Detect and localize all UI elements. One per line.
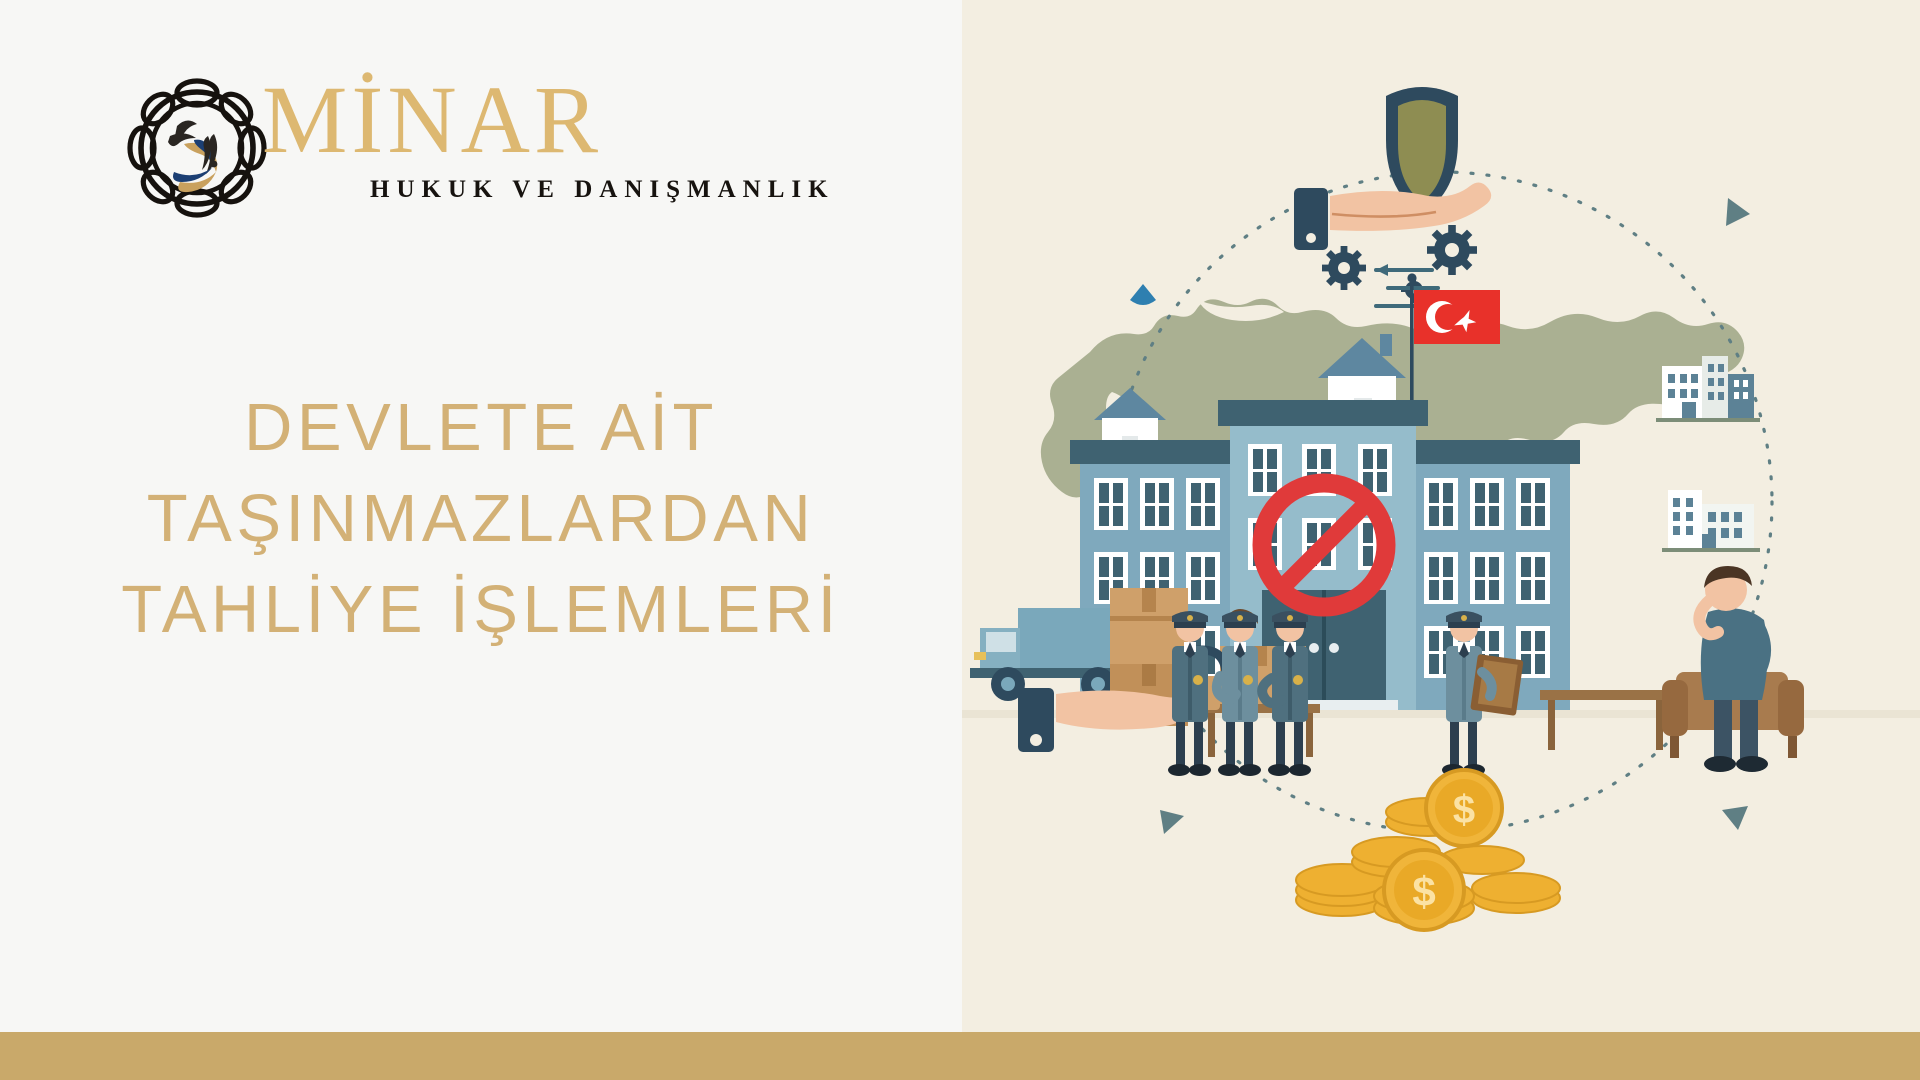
bottom-accent-bar	[0, 1032, 1920, 1080]
page-title-line-3: TAHLİYE İŞLEMLERİ	[0, 564, 962, 655]
knot-bird-emblem-icon	[122, 74, 272, 222]
svg-text:$: $	[1453, 788, 1475, 832]
brand-tagline: HUKUK VE DANIŞMANLIK	[370, 176, 835, 204]
brand-wordmark: MİNAR	[262, 68, 602, 172]
poster-canvas: MİNAR HUKUK VE DANIŞMANLIK DEVLETE AİT T…	[0, 0, 1920, 1080]
svg-text:$: $	[1412, 868, 1435, 915]
page-title: DEVLETE AİT TAŞINMAZLARDAN TAHLİYE İŞLEM…	[0, 382, 962, 655]
page-title-line-1: DEVLETE AİT	[0, 382, 962, 473]
clipboard-icon	[1470, 654, 1523, 716]
illustration: $ $	[962, 0, 1920, 1032]
page-title-line-2: TAŞINMAZLARDAN	[0, 473, 962, 564]
brand-logo[interactable]: MİNAR HUKUK VE DANIŞMANLIK	[122, 68, 732, 228]
